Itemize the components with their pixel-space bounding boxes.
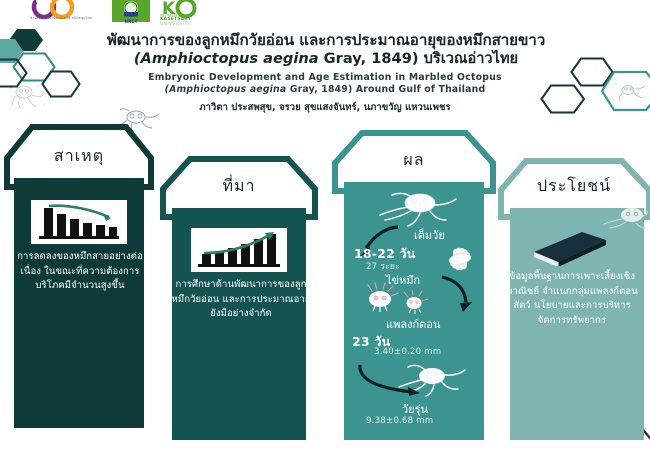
page-title-thai-line2-rest: Gray, 1849) บริเวณอ่าวไทย: [319, 50, 519, 67]
research-fund-logo: สำนักงานการวิจัยแห่งชาติ สนับสนุนโดย: [22, 0, 100, 26]
adult-octopus-icon: [364, 192, 460, 228]
scientific-name-english-line: (Amphioctopus aegina: [165, 84, 287, 95]
column-benefits-caption: ประโยชน์: [498, 174, 650, 199]
arrow-egg-to-plankton: [436, 274, 480, 316]
paralarva-icon-small: [400, 290, 430, 314]
page-title-thai-line1: พัฒนาการของลูกหมึกวัยอ่อน และการประมาณอา…: [18, 30, 634, 50]
subtitle-english-line2-rest: Gray, 1849) Around Gulf of Thailand: [286, 84, 485, 95]
column-cause-body: การลดลงของหมึกสายอย่างต่อเนื่อง ในขณะที่…: [0, 250, 160, 294]
column-cause-caption: สาเหตุ: [4, 144, 154, 169]
arrow-plankton-to-juvenile: [354, 362, 424, 402]
column-results-panel: เต็มวัย 18-22 วัน 27 ระยะ ไข่หมึก: [344, 182, 484, 440]
column-benefits[interactable]: ประโยชน์ ข้อมูล: [494, 158, 650, 440]
scientific-name-thai-line: (Amphioctopus aegina: [134, 50, 319, 67]
book-icon: [530, 230, 608, 270]
bottom-white-strip: [0, 440, 650, 450]
paralarva-icon-large: [362, 282, 402, 312]
plankton-size-value: 3.40±0.20 mm: [374, 347, 441, 357]
bar-chart-rising-icon: [191, 228, 287, 272]
kasetsart-university-logo: K มหาวิทยาลัยเกษตรศาสตร์ KASETSART UNIVE…: [160, 0, 240, 26]
column-background[interactable]: ที่มา การศึกษาด้านพัฒนาการของลูกหมึกวัยอ…: [156, 156, 326, 446]
nrct-logo: วช. NRCT: [100, 0, 162, 26]
column-cause[interactable]: สาเหตุ การลดลงของหมึกสายอย่าง: [0, 124, 160, 444]
logo-strip: สำนักงานการวิจัยแห่งชาติ สนับสนุนโดย วช.…: [0, 0, 650, 26]
poster-canvas: สำนักงานการวิจัยแห่งชาติ สนับสนุนโดย วช.…: [0, 0, 650, 450]
column-background-body: การศึกษาด้านพัฒนาการของลูกหมึกวัยอ่อน แล…: [156, 278, 326, 322]
column-background-caption: ที่มา: [160, 174, 318, 199]
egg-cluster-icon: [438, 242, 482, 276]
column-results[interactable]: ผล: [330, 130, 500, 442]
column-results-caption: ผล: [332, 148, 496, 173]
subtitle-english-line2: (Amphioctopus aegina Gray, 1849) Around …: [40, 84, 610, 95]
octopus-sketch-benefits-column: [592, 204, 648, 230]
bar-chart-declining-icon: [31, 200, 127, 244]
juvenile-size-value: 9.38±0.68 mm: [366, 416, 433, 426]
research-fund-caption: สำนักงานการวิจัยแห่งชาติ สนับสนุนโดย: [22, 17, 100, 21]
subtitle-english-line1: Embryonic Development and Age Estimation…: [40, 71, 610, 84]
header-block: พัฒนาการของลูกหมึกวัยอ่อน และการประมาณอา…: [0, 26, 650, 118]
nrct-caption: NRCT: [112, 20, 150, 25]
column-benefits-body: ข้อมูลพื้นฐานการเพาะเลี้ยงเชิงพาณิชย์ จำ…: [494, 270, 650, 329]
octopus-lifecycle-diagram: เต็มวัย 18-22 วัน 27 ระยะ ไข่หมึก: [344, 182, 484, 440]
plankton-label: แพลงก์ตอน: [386, 315, 440, 333]
page-title-thai-line2: (Amphioctopus aegina Gray, 1849) บริเวณอ…: [18, 50, 634, 69]
